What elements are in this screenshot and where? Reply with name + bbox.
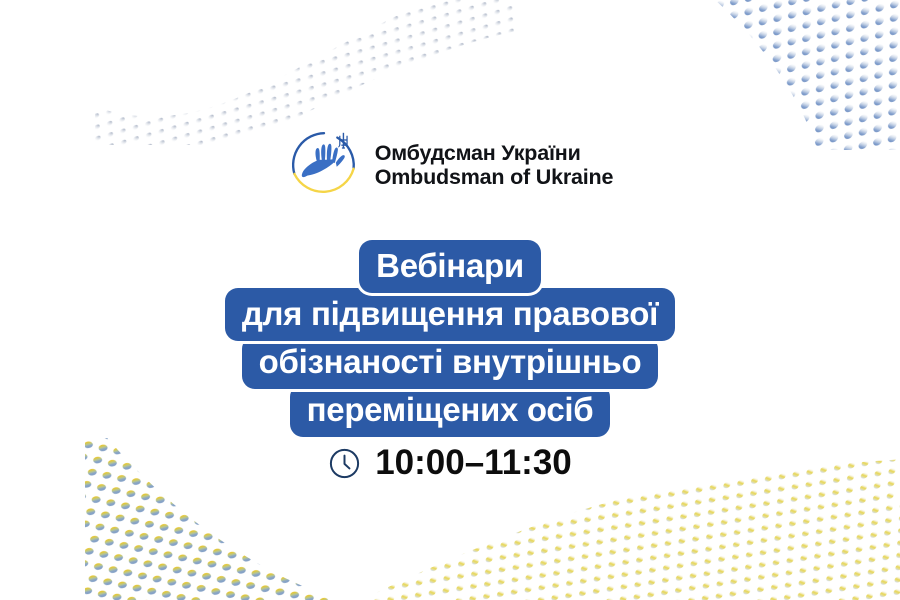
time-row: 10:00–11:30 (0, 443, 900, 483)
hand-dove-shape (302, 144, 345, 177)
logo-line-en: Ombudsman of Ukraine (375, 165, 614, 189)
logo-line-uk: Омбудсман України (375, 141, 614, 165)
headline-line-4: переміщених осіб (290, 384, 611, 437)
dot-wave-top-left-icon (95, 0, 515, 145)
headline-line-3: обізнаності внутрішньо (242, 336, 659, 389)
time-value: 10:00–11:30 (375, 443, 572, 483)
headline-line-1: Вебінари (359, 240, 541, 293)
ombudsman-logo: Омбудсман України Ombudsman of Ukraine (0, 128, 900, 202)
headline-block: Вебінари для підвищення правової обізнан… (0, 240, 900, 437)
clock-icon (328, 447, 361, 480)
ombudsman-hand-dove-emblem-icon (287, 128, 361, 202)
poster-canvas: Омбудсман України Ombudsman of Ukraine В… (0, 0, 900, 600)
headline-line-2: для підвищення правової (225, 288, 675, 341)
logo-wordmark: Омбудсман України Ombudsman of Ukraine (375, 141, 614, 189)
